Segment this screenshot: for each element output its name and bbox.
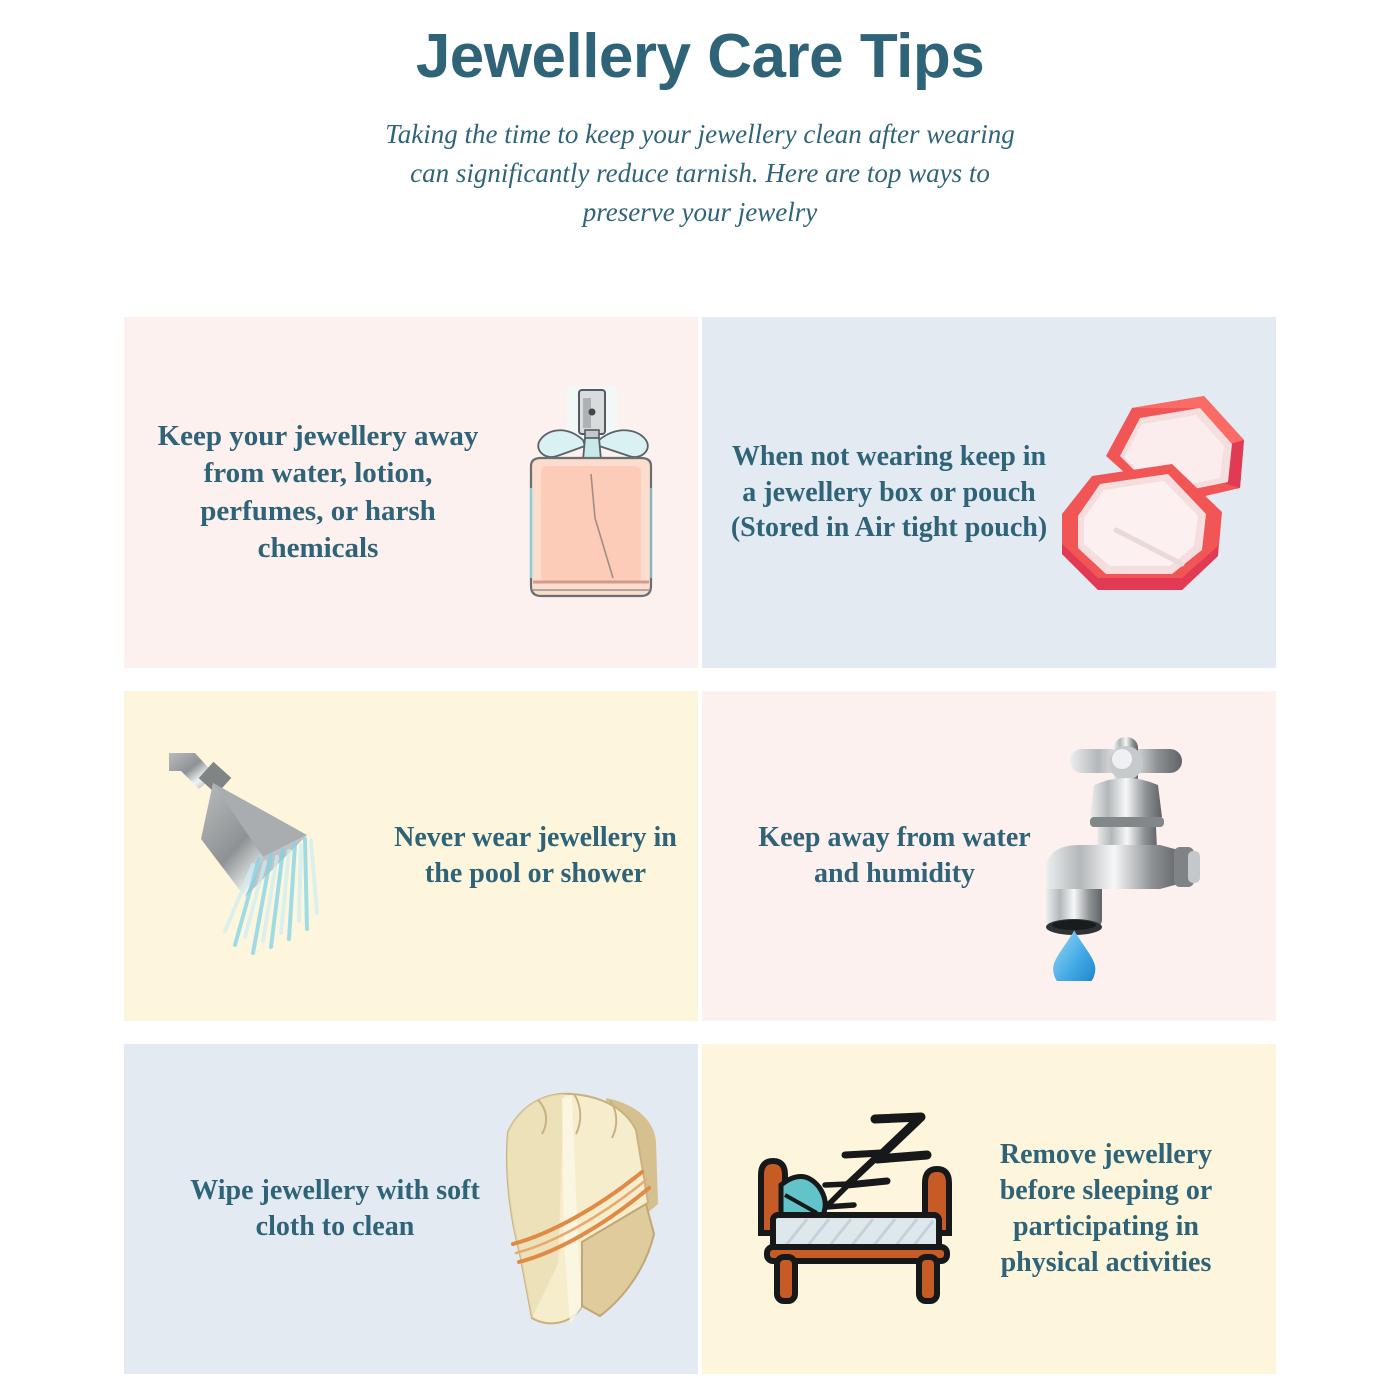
page-title: Jewellery Care Tips xyxy=(0,24,1400,89)
tip-text: Wipe jewellery with soft cloth to clean xyxy=(184,1173,486,1245)
tip-text: Keep your jewellery away from water, lot… xyxy=(146,418,490,566)
tip-text: Never wear jewellery in the pool or show… xyxy=(389,820,682,892)
page-subtitle: Taking the time to keep your jewellery c… xyxy=(380,115,1020,232)
tip-text: When not wearing keep in a jewellery box… xyxy=(724,439,1054,546)
tip-text: Remove jewellery before sleeping or part… xyxy=(966,1137,1246,1280)
tip-card-remove-before-sleep: Remove jewellery before sleeping or part… xyxy=(702,1044,1276,1374)
tip-text: Keep away from water and humidity xyxy=(757,820,1032,892)
tip-card-store-in-box: When not wearing keep in a jewellery box… xyxy=(702,317,1276,668)
faucet-drip-icon xyxy=(1032,731,1232,981)
tips-grid: Keep your jewellery away from water, lot… xyxy=(124,317,1276,1374)
tip-card-pool-or-shower: Never wear jewellery in the pool or show… xyxy=(124,691,698,1021)
jewellery-care-infographic: Jewellery Care Tips Taking the time to k… xyxy=(0,0,1400,1400)
header: Jewellery Care Tips Taking the time to k… xyxy=(0,0,1400,233)
tip-card-water-humidity: Keep away from water and humidity xyxy=(702,691,1276,1021)
shower-head-icon xyxy=(159,731,389,981)
ring-box-icon xyxy=(1054,378,1264,608)
bed-sleep-icon xyxy=(751,1109,966,1309)
tip-card-water-lotion-perfume: Keep your jewellery away from water, lot… xyxy=(124,317,698,668)
tip-card-wipe-with-cloth: Wipe jewellery with soft cloth to clean xyxy=(124,1044,698,1374)
perfume-bottle-icon xyxy=(490,368,690,618)
soft-cloth-icon xyxy=(486,1084,676,1334)
